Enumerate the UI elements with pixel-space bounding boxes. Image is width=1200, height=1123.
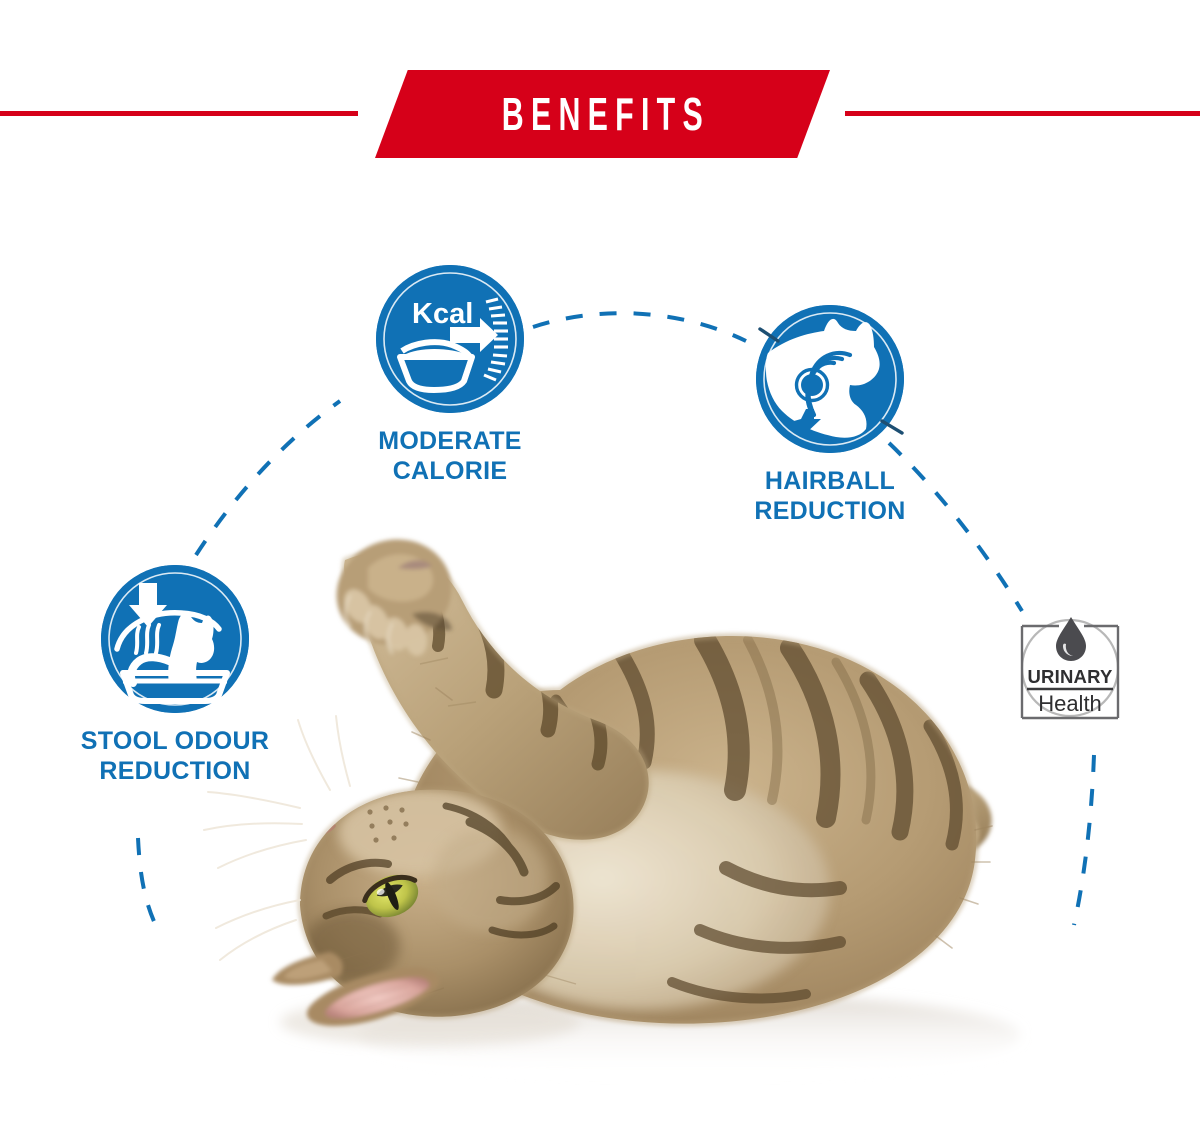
header-banner-area: BENEFITS: [0, 60, 1200, 170]
benefits-banner: BENEFITS: [375, 70, 830, 158]
benefit-hairball-reduction[interactable]: HAIRBALL REDUCTION: [680, 305, 980, 526]
urinary-health-badge[interactable]: URINARY Health: [1008, 608, 1132, 732]
urinary-badge-line2: Health: [1038, 691, 1102, 716]
svg-text:Kcal: Kcal: [412, 298, 473, 330]
kcal-bowl-gauge-icon: Kcal: [376, 265, 524, 413]
urinary-badge-line1: URINARY: [1028, 666, 1113, 687]
benefits-infographic: BENEFITS: [0, 0, 1200, 1123]
benefit-moderate-calorie[interactable]: Kcal: [302, 265, 598, 486]
header-rule-left: [0, 111, 358, 116]
benefit-label-hairball-reduction: HAIRBALL REDUCTION: [680, 467, 980, 526]
header-rule-right: [845, 111, 1200, 116]
benefit-label-stool-odour-reduction: STOOL ODOUR REDUCTION: [17, 727, 333, 786]
benefit-stool-odour-reduction[interactable]: STOOL ODOUR REDUCTION: [17, 565, 333, 786]
benefit-label-moderate-calorie: MODERATE CALORIE: [302, 427, 598, 486]
cat-digestive-hairball-icon: [756, 305, 904, 453]
cat-litter-box-odour-icon: [101, 565, 249, 713]
page-title: BENEFITS: [495, 91, 710, 137]
